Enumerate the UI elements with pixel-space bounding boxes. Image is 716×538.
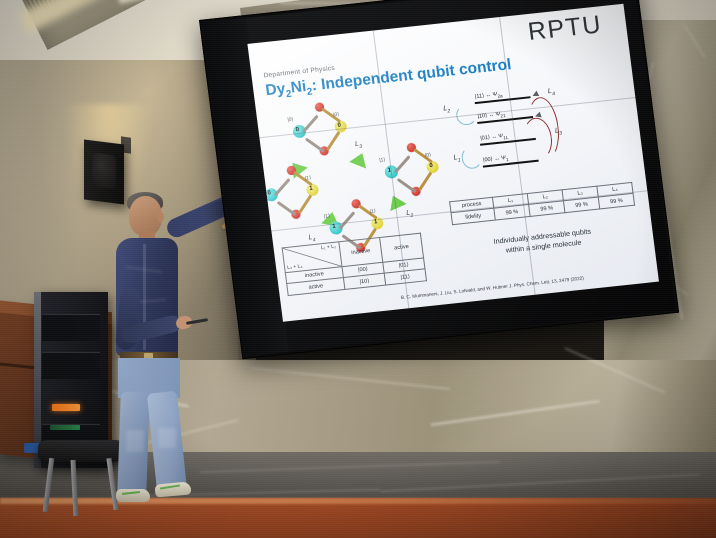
rack-led-display: [52, 404, 80, 411]
fidelity-table: process L₁ L₂ L₃ L₄ fidelity 99 % 99 % 9…: [449, 182, 635, 225]
molecule-label-left: L4: [308, 234, 316, 244]
qubit-state-right: |0⟩: [425, 152, 432, 159]
molecule-label-top: L3: [355, 140, 363, 150]
title-ni: Ni: [290, 78, 308, 97]
rptu-logo: RPTU: [526, 10, 603, 47]
transition-label-l3: L3: [555, 127, 563, 137]
qubit-state-right: |1⟩: [369, 208, 376, 215]
qubit-value-right: 0: [429, 163, 433, 169]
qubit-state-right: |0⟩: [333, 112, 340, 119]
title-rest: : Independent qubit control: [311, 56, 513, 94]
speaker-cone-icon: [92, 153, 116, 190]
slide-caption: Individually addressable qubits within a…: [452, 222, 634, 262]
molecule-left: 0 1 |0⟩ |1⟩: [259, 163, 329, 231]
transition-label-l4: L4: [548, 88, 556, 98]
title-dy: Dy: [264, 80, 286, 99]
rack-status-leds: [50, 425, 80, 430]
transition-label-l1: L1: [453, 154, 461, 164]
presenter-ear: [157, 212, 164, 222]
lecture-scene: RPTU Department of Physics Dy2Ni2: Indep…: [0, 0, 716, 538]
qubit-state-right: |1⟩: [305, 175, 312, 182]
presentation-slide: RPTU Department of Physics Dy2Ni2: Indep…: [247, 4, 659, 322]
transition-arrow-icon: [349, 150, 370, 169]
qubit-state-left: |1⟩: [324, 213, 331, 220]
transition-label-l2: L2: [443, 105, 451, 115]
qubit-value-right: 1: [309, 186, 313, 192]
stage-edge-highlight: [0, 498, 716, 504]
wall-speaker: [84, 140, 124, 205]
video-wall[interactable]: RPTU Department of Physics Dy2Ni2: Indep…: [199, 0, 679, 359]
qubit-state-left: |0⟩: [287, 117, 294, 124]
qubit-value-left: 0: [267, 190, 271, 196]
qubit-state-left: |1⟩: [379, 157, 386, 164]
stage-edge: [0, 498, 716, 538]
transition-arc-l1: [460, 146, 483, 170]
